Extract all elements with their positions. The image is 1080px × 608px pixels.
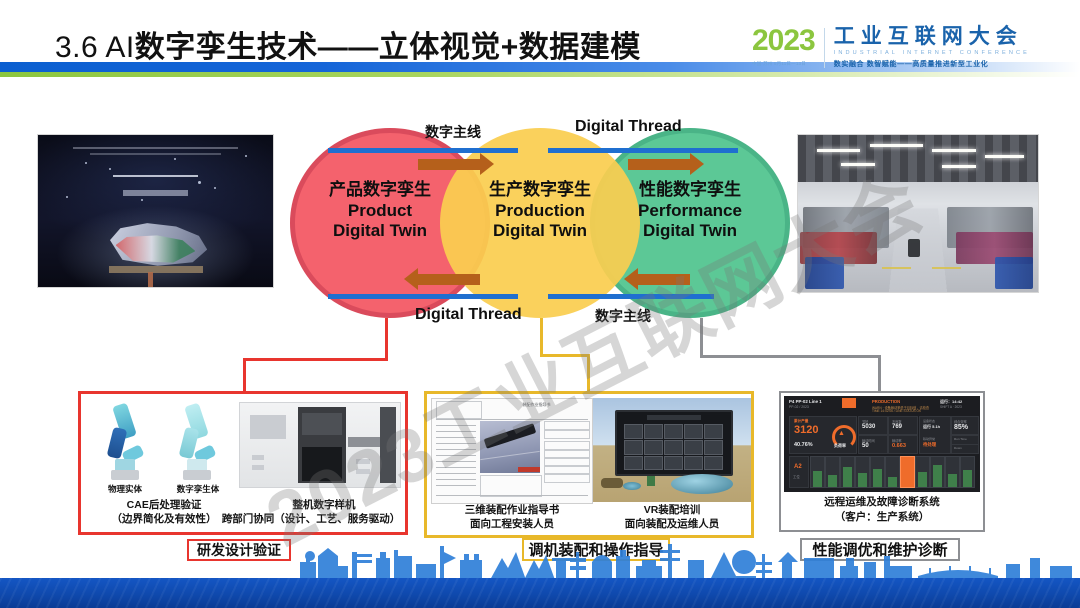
- city-skyline-decoration: [0, 532, 1080, 580]
- venn-label-product-en2: Digital Twin: [300, 221, 460, 242]
- logo-name-en: INDUSTRIAL INTERNET CONFERENCE: [834, 50, 1030, 56]
- venn-label-performance: 性能数字孪生 Performance Digital Twin: [610, 180, 770, 242]
- venn-label-production-cn: 生产数字孪生: [460, 180, 620, 201]
- flow-arrow-right-top-left: [418, 159, 480, 170]
- panel-assembly-operation-guidance: 装配作业指导书: [424, 391, 754, 538]
- panel-rnd-design-validation: 物理实体 数字孪生体 CAE后处理验证 （边界简化及有效性） 整机数字样机 跨部…: [78, 391, 408, 535]
- dash-status: PRODUCTION: [872, 399, 900, 404]
- venn-label-production: 生产数字孪生 Production Digital Twin: [460, 180, 620, 242]
- connector-red-vertical-down: [243, 358, 246, 393]
- logo-year-block: 2023 中国·苏州 5月11日—13日: [752, 26, 815, 67]
- assembly-work-instruction-doc: 装配作业指导书: [431, 398, 593, 504]
- venn-label-performance-cn: 性能数字孪生: [610, 180, 770, 201]
- dash-metric-1-value: 769: [892, 424, 902, 430]
- venn-diagram: 产品数字孪生 Product Digital Twin 生产数字孪生 Produ…: [290, 128, 790, 318]
- logo-tagline: 数实融合 数智赋能——高质量推进新型工业化: [834, 59, 1030, 69]
- page-title-main: 数字孪生技术——立体视觉+数据建模: [135, 31, 641, 64]
- caption-prototype-line1: 整机数字样机: [259, 499, 389, 512]
- flow-arrow-right-top-right: [628, 159, 690, 170]
- digital-thread-bar-bottom-left: [328, 294, 518, 299]
- thread-label-bottom-right: 数字主线: [595, 306, 651, 326]
- exploded-3d-model-dark-photo: [37, 134, 274, 288]
- remote-ops-dashboard: P4 PP-02 Line 1 PP-02 / 2023 PRODUCTION …: [784, 396, 980, 492]
- flow-arrow-left-bottom-right: [638, 274, 690, 285]
- connector-gray-vertical-top: [700, 318, 703, 356]
- dash-oee-value: 85%: [954, 424, 968, 431]
- flow-arrow-left-bottom-left: [418, 274, 480, 285]
- connector-gray-horizontal: [700, 355, 880, 358]
- venn-label-product: 产品数字孪生 Product Digital Twin: [300, 180, 460, 242]
- dash-secondary-value: 40.76%: [794, 442, 813, 448]
- caption-vr-training-line1: VR装配培训: [593, 504, 751, 517]
- label-digital-twin: 数字孪生体: [163, 484, 233, 495]
- vr-assembly-training-scene: [593, 398, 751, 502]
- header-rule-green: [0, 72, 1080, 77]
- logo-year: 2023: [752, 26, 815, 56]
- caption-vr-training-line2: 面向装配及运维人员: [593, 518, 751, 531]
- venn-label-product-cn: 产品数字孪生: [300, 180, 460, 201]
- dash-primary-value: 3120: [794, 424, 818, 436]
- venn-label-product-en1: Product: [300, 201, 460, 222]
- venn-label-production-en2: Digital Twin: [460, 221, 620, 242]
- caption-3d-instruction-line2: 面向工程安装人员: [433, 518, 591, 531]
- thread-label-top-left: 数字主线: [425, 122, 481, 142]
- robot-digital-twin: [169, 404, 225, 482]
- venn-label-performance-en1: Performance: [610, 201, 770, 222]
- dash-station-badge: A2: [794, 464, 802, 470]
- digital-prototype-machine: [239, 402, 401, 488]
- dash-secondary-label: 负荷率: [834, 443, 846, 449]
- venn-label-production-en1: Production: [460, 201, 620, 222]
- dash-metric-3-value: 0.663: [892, 443, 906, 449]
- connector-yellow-horizontal: [540, 354, 590, 357]
- footer-band: [0, 578, 1080, 608]
- logo-name-cn: 工业互联网大会: [834, 26, 1030, 48]
- slide-root: 3.6 AI数字孪生技术——立体视觉+数据建模 2023 中国·苏州 5月11日…: [0, 0, 1080, 608]
- caption-3d-instruction-line1: 三维装配作业指导书: [433, 504, 591, 517]
- page-title-lead: 3.6 AI: [55, 31, 135, 64]
- dash-metric-2-value: 50: [862, 443, 869, 449]
- doc-heading: 装配作业指导书: [484, 402, 589, 408]
- label-physical-entity: 物理实体: [93, 484, 157, 495]
- dash-station-sub: 工位: [793, 474, 800, 479]
- connector-yellow-vertical-top: [540, 318, 543, 356]
- connector-red-vertical-top: [385, 318, 388, 360]
- digital-thread-bar-bottom-right: [548, 294, 714, 299]
- thread-label-top-right: Digital Thread: [575, 118, 682, 136]
- digital-thread-bar-top-right: [548, 148, 738, 153]
- connector-yellow-vertical-down: [587, 354, 590, 393]
- logo-date-line: 中国·苏州 5月11日—13日: [752, 61, 815, 67]
- dash-line-id: P4 PP-02 Line 1: [789, 399, 822, 404]
- thread-label-bottom-left: Digital Thread: [415, 306, 522, 324]
- caption-prototype-line2: 跨部门协同（设计、工艺、服务驱动）: [213, 513, 409, 526]
- logo-divider: [824, 28, 825, 68]
- robot-physical-entity: [97, 404, 153, 482]
- connector-gray-vertical-down: [878, 355, 881, 393]
- venn-label-performance-en2: Digital Twin: [610, 221, 770, 242]
- caption-remote-ops-line1: 远程运维及故障诊断系统: [784, 496, 980, 509]
- page-title: 3.6 AI数字孪生技术——立体视觉+数据建模: [55, 22, 641, 66]
- dash-metric-0-value: 5030: [862, 424, 875, 430]
- panel-performance-tuning-diagnostics: P4 PP-02 Line 1 PP-02 / 2023 PRODUCTION …: [779, 391, 985, 532]
- dark-scene: [38, 135, 273, 287]
- factory-scene: [798, 135, 1038, 292]
- caption-remote-ops-line2: （客户：生产系统）: [784, 511, 980, 524]
- factory-assembly-line-photo: [797, 134, 1039, 293]
- caption-cae-line1: CAE后处理验证: [89, 499, 239, 512]
- logo-name-block: 工业互联网大会 INDUSTRIAL INTERNET CONFERENCE 数…: [834, 26, 1030, 69]
- connector-red-horizontal: [243, 358, 388, 361]
- conference-logo: 2023 中国·苏州 5月11日—13日 工业互联网大会 INDUSTRIAL …: [752, 26, 1030, 69]
